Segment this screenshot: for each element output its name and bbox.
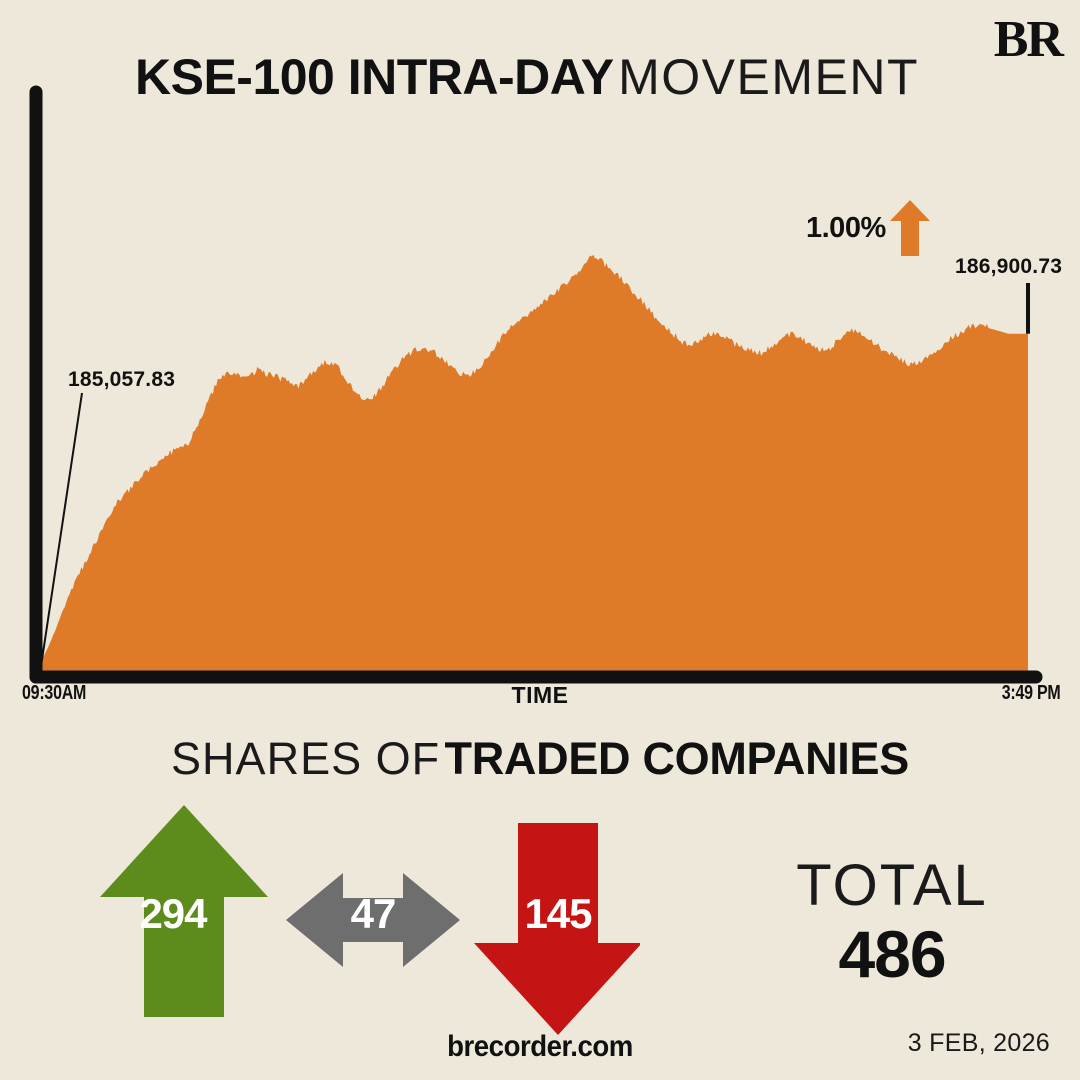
arrow-up-icon (890, 200, 930, 256)
close-value-label: 186,900.73 (955, 255, 1062, 279)
unchanged-count: 47 (333, 890, 413, 938)
shares-section-heading: SHARES OF TRADED COMPANIES (0, 733, 1080, 785)
percent-change-indicator: 1.00% (806, 200, 930, 256)
x-axis-labels: 09:30AM TIME 3:49 PM (0, 682, 1080, 718)
x-axis-end-label: 3:49 PM (1001, 682, 1060, 705)
chart-svg (0, 80, 1080, 720)
declined-count: 145 (503, 890, 613, 938)
advanced-count: 294 (118, 890, 228, 938)
total-label: TOTAL (742, 855, 1042, 917)
total-block: TOTAL 486 (742, 855, 1042, 989)
percent-change-label: 1.00% (806, 212, 886, 245)
footer-date: 3 FEB, 2026 (908, 1029, 1050, 1058)
open-value-label: 185,057.83 (68, 368, 175, 392)
x-axis-title: TIME (0, 682, 1080, 709)
site-url[interactable]: brecorder.com (43, 1030, 1037, 1064)
intraday-chart: 185,057.83 186,900.73 1.00% (0, 80, 1080, 720)
shares-heading-light: SHARES OF (171, 733, 440, 784)
shares-heading-bold: TRADED COMPANIES (445, 733, 909, 784)
chart-area-series (40, 255, 1028, 672)
total-value: 486 (742, 919, 1042, 989)
